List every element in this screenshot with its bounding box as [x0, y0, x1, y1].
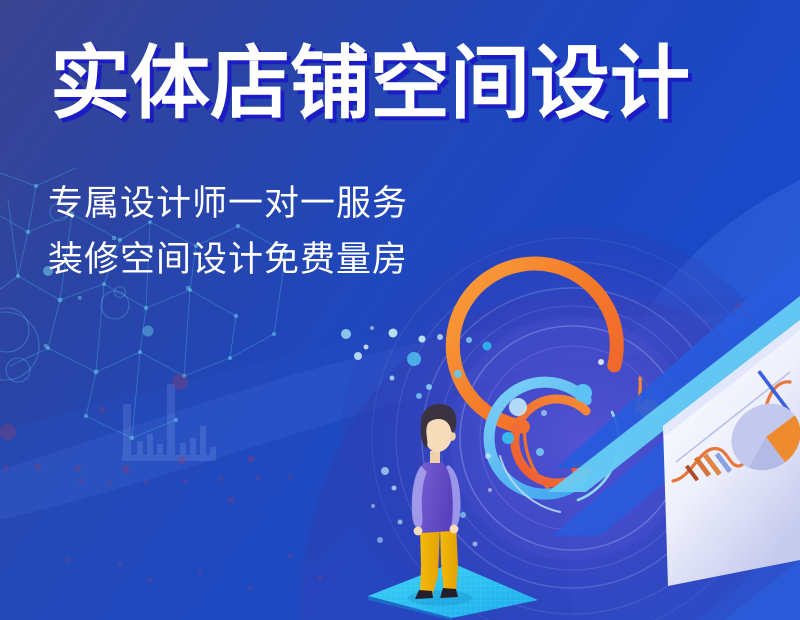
promo-banner: 实体店铺空间设计 专属设计师一对一服务 装修空间设计免费量房 — [0, 0, 800, 620]
arc-dot-blue — [574, 384, 592, 402]
page-title: 实体店铺空间设计 — [50, 44, 690, 124]
person-far-hand — [450, 525, 459, 534]
subtitle-line-1: 专属设计师一对一服务 — [48, 186, 408, 221]
subtitle-line-2: 装修空间设计免费量房 — [48, 242, 408, 277]
arc-dot-white — [598, 359, 604, 365]
network-glow-node-2 — [143, 326, 154, 337]
person-right-shoe — [440, 588, 458, 598]
person-near-hand — [414, 527, 423, 536]
person-neck — [430, 451, 440, 463]
